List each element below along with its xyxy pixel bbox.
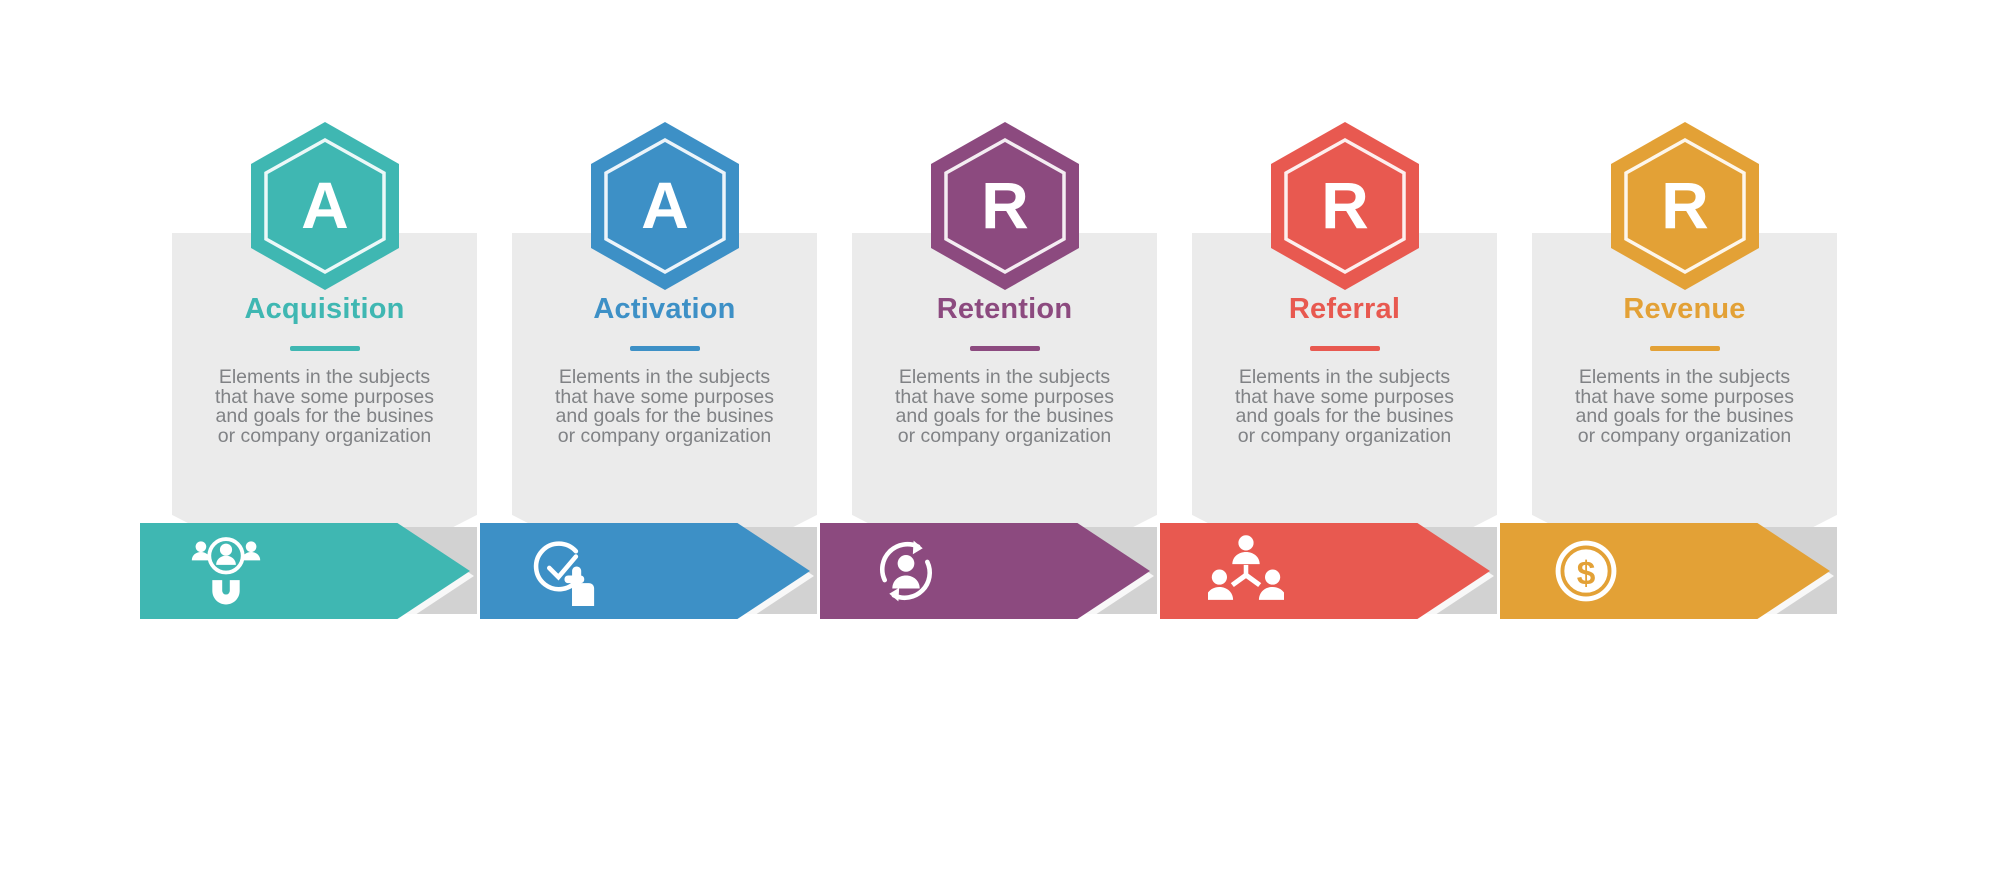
stage-card-list: A Acquisition Elements in the subjects t… — [0, 0, 2000, 896]
stage-title: Acquisition — [172, 293, 477, 326]
stage-description: Elements in the subjects that have some … — [1206, 368, 1483, 446]
infographic-canvas: A Acquisition Elements in the subjects t… — [0, 0, 2000, 896]
stage-icon: $ — [1548, 533, 1624, 609]
people-network-share-icon — [1208, 533, 1284, 609]
stage-letter: A — [301, 168, 349, 242]
stage-letter: A — [641, 168, 689, 242]
stage-icon — [528, 533, 604, 609]
stage-arrow-banner[interactable] — [820, 523, 1150, 619]
stage-arrow-banner[interactable] — [1160, 523, 1490, 619]
hexagon-icon: A — [588, 120, 742, 292]
stage-arrow-banner[interactable] — [140, 523, 470, 619]
stage-title-divider — [1650, 346, 1720, 351]
stage-arrow-banner[interactable] — [480, 523, 810, 619]
stage-hexagon-badge[interactable]: R — [928, 120, 1082, 292]
check-circle-hand-click-icon — [528, 533, 604, 609]
stage-card[interactable]: A Acquisition Elements in the subjects t… — [172, 233, 477, 593]
stage-title: Retention — [852, 293, 1157, 326]
stage-icon — [188, 533, 264, 609]
dollar-coin-icon: $ — [1548, 533, 1624, 609]
stage-letter: R — [1321, 168, 1369, 242]
stage-icon — [1208, 533, 1284, 609]
people-magnet-icon — [188, 533, 264, 609]
stage-title: Activation — [512, 293, 817, 326]
stage-hexagon-badge[interactable]: A — [588, 120, 742, 292]
stage-description: Elements in the subjects that have some … — [866, 368, 1143, 446]
stage-description: Elements in the subjects that have some … — [186, 368, 463, 446]
stage-title-divider — [1310, 346, 1380, 351]
hexagon-icon: R — [1268, 120, 1422, 292]
hexagon-icon: R — [928, 120, 1082, 292]
stage-hexagon-badge[interactable]: A — [248, 120, 402, 292]
stage-letter: R — [1661, 168, 1709, 242]
stage-card[interactable]: $ R Revenue Elements in the subjects tha… — [1532, 233, 1837, 593]
stage-description: Elements in the subjects that have some … — [526, 368, 803, 446]
hexagon-icon: R — [1608, 120, 1762, 292]
stage-arrow-banner[interactable]: $ — [1500, 523, 1830, 619]
stage-title-divider — [970, 346, 1040, 351]
stage-description: Elements in the subjects that have some … — [1546, 368, 1823, 446]
stage-card[interactable]: R Retention Elements in the subjects tha… — [852, 233, 1157, 593]
svg-text:$: $ — [1577, 556, 1596, 593]
stage-title-divider — [630, 346, 700, 351]
stage-title-divider — [290, 346, 360, 351]
stage-title: Revenue — [1532, 293, 1837, 326]
stage-icon — [868, 533, 944, 609]
user-refresh-cycle-icon — [868, 533, 944, 609]
stage-hexagon-badge[interactable]: R — [1268, 120, 1422, 292]
stage-title: Referral — [1192, 293, 1497, 326]
stage-hexagon-badge[interactable]: R — [1608, 120, 1762, 292]
stage-card[interactable]: R Referral Elements in the subjects that… — [1192, 233, 1497, 593]
hexagon-icon: A — [248, 120, 402, 292]
stage-letter: R — [981, 168, 1029, 242]
stage-card[interactable]: A Activation Elements in the subjects th… — [512, 233, 817, 593]
